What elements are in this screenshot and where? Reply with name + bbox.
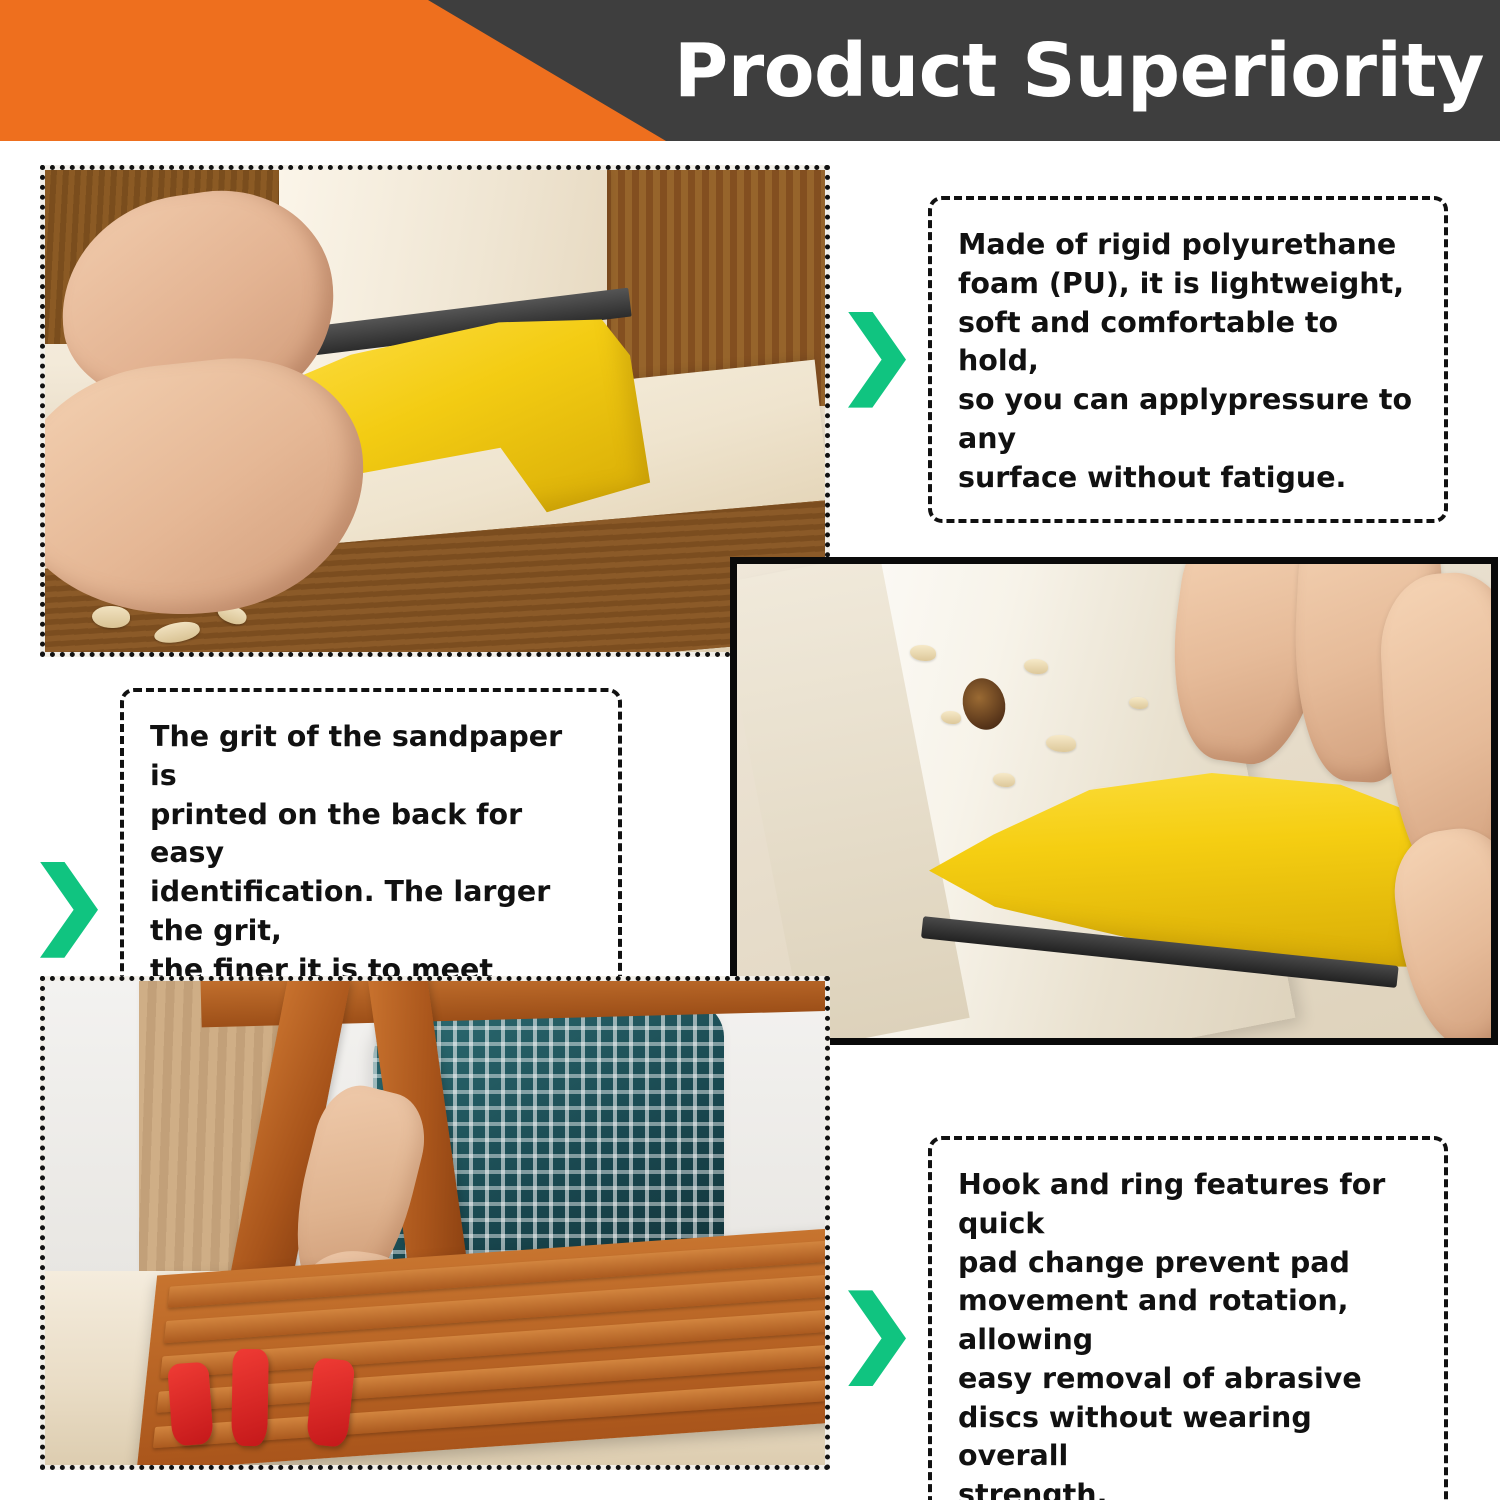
- page-title: Product Superiority: [674, 34, 1484, 108]
- chevron-right-icon: [40, 862, 98, 958]
- photo-3-red-tool-handle: [167, 1362, 213, 1447]
- infographic-page: Product Superiority Made of rigid polyur…: [0, 0, 1500, 1500]
- callout-material-box: Made of rigid polyurethane foam (PU), it…: [928, 196, 1448, 523]
- callout-hook-and-ring-text: Hook and ring features for quick pad cha…: [958, 1166, 1418, 1500]
- photo-2-content: [737, 564, 1491, 1038]
- photo-2-sawdust: [1129, 697, 1148, 709]
- photo-3-red-tool-handle: [231, 1349, 269, 1446]
- callout-hook-and-ring: Hook and ring features for quick pad cha…: [848, 1136, 1448, 1500]
- photo-1-wood-shaving: [92, 606, 130, 628]
- photo-3-content: [45, 981, 825, 1465]
- callout-material-text: Made of rigid polyurethane foam (PU), it…: [958, 226, 1418, 497]
- header-orange-shape: [0, 0, 700, 141]
- photo-1-content: [45, 170, 825, 652]
- chevron-right-icon: [848, 1290, 906, 1386]
- chevron-right-icon: [848, 312, 906, 408]
- photo-sanding-white-block: [730, 557, 1498, 1045]
- header-banner: Product Superiority: [0, 0, 1500, 141]
- photo-bench-assembly: [40, 976, 830, 1470]
- photo-2-sawdust: [910, 645, 936, 661]
- callout-material: Made of rigid polyurethane foam (PU), it…: [848, 196, 1448, 523]
- photo-hand-sanding-board: [40, 165, 830, 657]
- callout-hook-and-ring-box: Hook and ring features for quick pad cha…: [928, 1136, 1448, 1500]
- photo-2-sawdust: [941, 711, 961, 724]
- photo-2-sawdust: [1024, 659, 1048, 674]
